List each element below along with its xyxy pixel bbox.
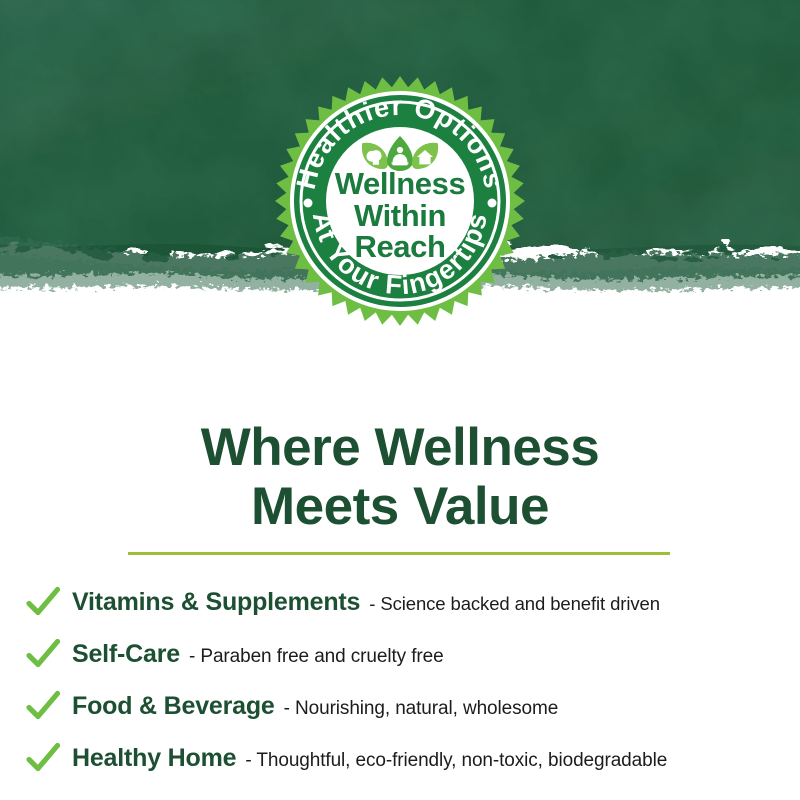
wellness-badge: Healthier Options At Your Fingertips — [242, 72, 558, 330]
title-divider — [128, 552, 670, 555]
list-item: Food & Beverage - Nourishing, natural, w… — [0, 680, 800, 732]
badge-center-line-1: Wellness — [242, 168, 558, 200]
list-item: Vitamins & Supplements - Science backed … — [0, 576, 800, 628]
list-item-text: Food & Beverage - Nourishing, natural, w… — [72, 692, 558, 721]
list-item-text: Healthy Home - Thoughtful, eco-friendly,… — [72, 744, 667, 773]
list-item-label: Self-Care — [72, 640, 180, 669]
check-icon — [26, 741, 60, 775]
check-icon — [26, 585, 60, 619]
list-item: Self-Care - Paraben free and cruelty fre… — [0, 628, 800, 680]
list-item-desc: - Thoughtful, eco-friendly, non-toxic, b… — [245, 750, 667, 772]
list-item-text: Self-Care - Paraben free and cruelty fre… — [72, 640, 444, 669]
check-icon — [26, 637, 60, 671]
list-item-text: Vitamins & Supplements - Science backed … — [72, 588, 660, 617]
benefits-list: Vitamins & Supplements - Science backed … — [0, 576, 800, 784]
list-item-desc: - Paraben free and cruelty free — [189, 646, 444, 668]
list-item-label: Vitamins & Supplements — [72, 588, 360, 617]
list-item: Healthy Home - Thoughtful, eco-friendly,… — [0, 732, 800, 784]
page-title-line-2: Meets Value — [0, 477, 800, 536]
list-item-label: Food & Beverage — [72, 692, 275, 721]
page-title: Where Wellness Meets Value — [0, 418, 800, 537]
badge-center-line-3: Reach — [242, 231, 558, 263]
check-icon — [26, 689, 60, 723]
badge-center-line-2: Within — [242, 200, 558, 232]
badge-center-text: Wellness Within Reach — [242, 168, 558, 263]
page-title-line-1: Where Wellness — [0, 418, 800, 477]
list-item-label: Healthy Home — [72, 744, 236, 773]
list-item-desc: - Science backed and benefit driven — [369, 593, 660, 615]
list-item-desc: - Nourishing, natural, wholesome — [284, 698, 559, 720]
